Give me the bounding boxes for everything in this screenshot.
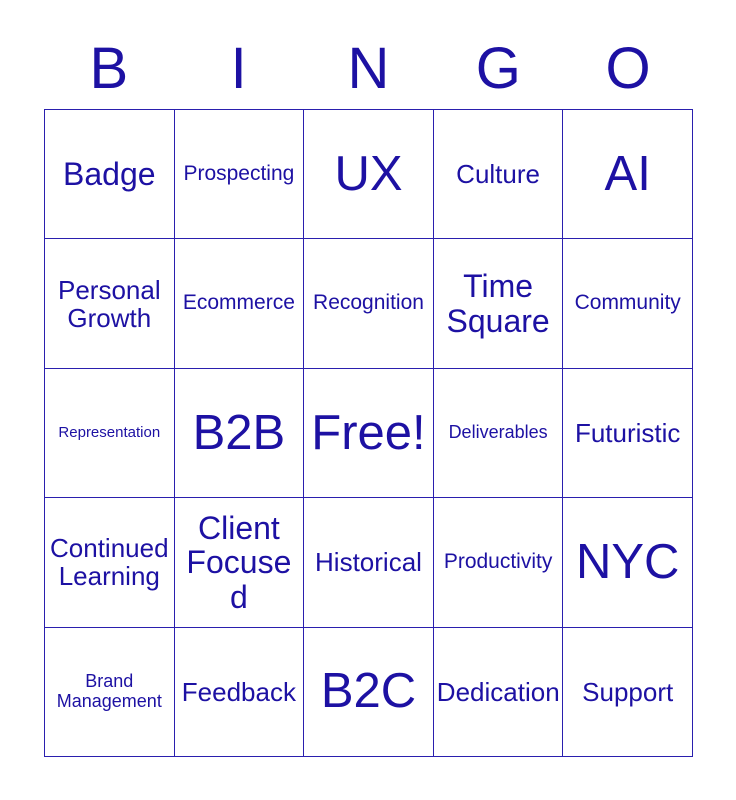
- bingo-cell-label: UX: [307, 148, 430, 201]
- bingo-cell[interactable]: NYC: [563, 498, 693, 627]
- bingo-cell[interactable]: PersonalGrowth: [45, 239, 175, 368]
- bingo-cell[interactable]: Prospecting: [175, 110, 305, 239]
- bingo-cell[interactable]: Culture: [434, 110, 564, 239]
- bingo-cell-label: Futuristic: [566, 419, 689, 447]
- bingo-cell-label: Culture: [437, 160, 560, 188]
- bingo-cell-label: Prospecting: [178, 163, 301, 186]
- bingo-cell-label: BrandManagement: [48, 672, 171, 711]
- bingo-cell[interactable]: Dedication: [434, 628, 564, 757]
- bingo-cell[interactable]: Deliverables: [434, 369, 564, 498]
- bingo-cell[interactable]: B2B: [175, 369, 305, 498]
- bingo-cell[interactable]: Productivity: [434, 498, 564, 627]
- bingo-cell-label: Historical: [307, 548, 430, 576]
- bingo-header-letter-g: G: [433, 40, 563, 98]
- bingo-header-letter-o: O: [563, 40, 693, 98]
- bingo-cell[interactable]: BrandManagement: [45, 628, 175, 757]
- bingo-header-letter-n: N: [304, 40, 434, 98]
- bingo-cell[interactable]: Futuristic: [563, 369, 693, 498]
- bingo-cell[interactable]: Representation: [45, 369, 175, 498]
- bingo-cell[interactable]: Community: [563, 239, 693, 368]
- bingo-card: B I N G O BadgeProspectingUXCultureAIPer…: [0, 0, 736, 800]
- bingo-cell[interactable]: UX: [304, 110, 434, 239]
- bingo-cell[interactable]: Historical: [304, 498, 434, 627]
- bingo-cell-label: Ecommerce: [178, 292, 301, 315]
- bingo-cell[interactable]: TimeSquare: [434, 239, 564, 368]
- bingo-cell-label: ContinuedLearning: [48, 534, 171, 590]
- bingo-cell[interactable]: Badge: [45, 110, 175, 239]
- bingo-cell[interactable]: ClientFocused: [175, 498, 305, 627]
- bingo-cell-label: NYC: [566, 536, 689, 589]
- bingo-cell[interactable]: AI: [563, 110, 693, 239]
- bingo-cell-label: Dedication: [437, 678, 560, 706]
- bingo-cell[interactable]: ContinuedLearning: [45, 498, 175, 627]
- bingo-cell-label: Community: [566, 292, 689, 315]
- bingo-cell-label: Support: [566, 678, 689, 706]
- bingo-cell-label: Free!: [307, 407, 430, 460]
- bingo-cell-label: Deliverables: [437, 423, 560, 442]
- bingo-cell[interactable]: Feedback: [175, 628, 305, 757]
- bingo-cell-label: Representation: [48, 425, 171, 441]
- bingo-cell-label: Badge: [48, 157, 171, 192]
- bingo-cell[interactable]: Ecommerce: [175, 239, 305, 368]
- bingo-cell-label: B2C: [307, 665, 430, 718]
- bingo-cell[interactable]: Recognition: [304, 239, 434, 368]
- bingo-cell-label: PersonalGrowth: [48, 276, 171, 332]
- bingo-cell-label: Feedback: [178, 678, 301, 706]
- bingo-header-letter-i: I: [174, 40, 304, 98]
- bingo-cell[interactable]: B2C: [304, 628, 434, 757]
- bingo-cell[interactable]: Support: [563, 628, 693, 757]
- bingo-cell-label: B2B: [178, 407, 301, 460]
- bingo-header-row: B I N G O: [44, 34, 693, 104]
- bingo-cell-label: Recognition: [307, 292, 430, 315]
- bingo-cell-label: ClientFocused: [178, 511, 301, 615]
- bingo-cell-label: TimeSquare: [437, 269, 560, 338]
- bingo-cell-label: Productivity: [437, 551, 560, 574]
- bingo-header-letter-b: B: [44, 40, 174, 98]
- bingo-cell[interactable]: Free!: [304, 369, 434, 498]
- bingo-grid: BadgeProspectingUXCultureAIPersonalGrowt…: [44, 109, 693, 757]
- bingo-cell-label: AI: [566, 148, 689, 201]
